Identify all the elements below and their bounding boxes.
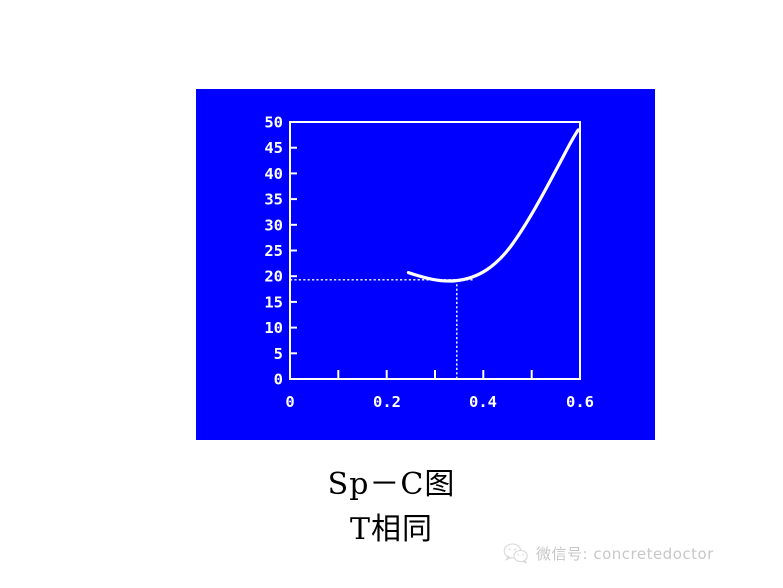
y-tick-label: 5 <box>274 345 283 363</box>
x-tick-label: 0.4 <box>469 393 497 411</box>
plot-frame <box>290 122 580 379</box>
y-tick-label: 15 <box>264 293 283 311</box>
x-axis-ticks <box>290 370 580 379</box>
sp-c-curve <box>408 130 578 281</box>
y-tick-label: 25 <box>264 242 283 260</box>
wechat-watermark: 微信号: concretedoctor <box>503 538 714 568</box>
y-tick-label: 20 <box>264 268 283 286</box>
y-tick-label: 50 <box>264 114 283 132</box>
y-tick-label: 0 <box>274 371 283 389</box>
x-tick-labels: 0 0.2 0.4 0.6 <box>285 393 594 411</box>
y-tick-labels: 0 5 10 15 20 25 30 35 40 45 50 <box>264 114 283 389</box>
x-tick-label: 0.2 <box>373 393 401 411</box>
caption-line-1: Sp－C图 <box>0 462 783 507</box>
y-tick-label: 45 <box>264 139 283 157</box>
y-tick-label: 35 <box>264 191 283 209</box>
x-tick-label: 0.6 <box>566 393 594 411</box>
y-tick-label: 10 <box>264 319 283 337</box>
y-tick-label: 30 <box>264 216 283 234</box>
y-tick-label: 40 <box>264 165 283 183</box>
wechat-icon <box>503 542 529 564</box>
x-tick-label: 0 <box>285 393 294 411</box>
chart-panel: 0 5 10 15 20 25 30 35 40 45 50 0 0.2 0.4… <box>196 89 655 440</box>
sp-c-plot: 0 5 10 15 20 25 30 35 40 45 50 0 0.2 0.4… <box>196 89 655 440</box>
y-axis-ticks <box>290 122 297 379</box>
watermark-text: 微信号: concretedoctor <box>536 543 714 564</box>
slide-canvas: 0 5 10 15 20 25 30 35 40 45 50 0 0.2 0.4… <box>0 0 783 588</box>
